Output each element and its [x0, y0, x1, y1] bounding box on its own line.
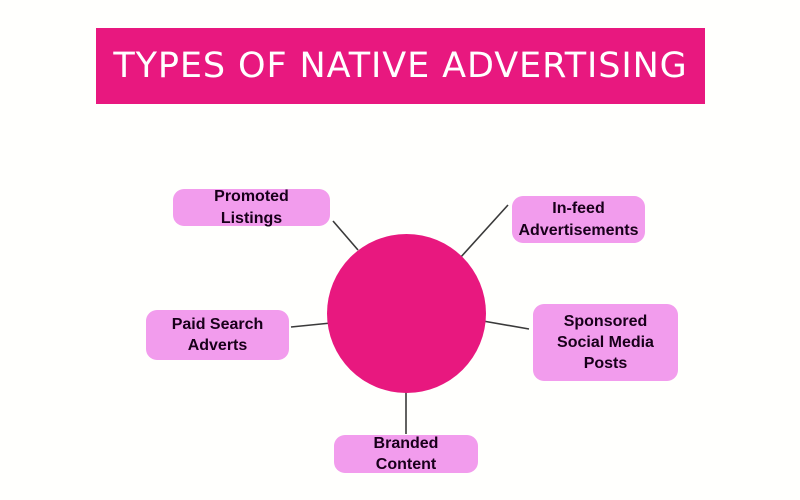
connector-in-feed-advertisements [460, 205, 508, 258]
node-in-feed-advertisements[interactable]: In-feed Advertisements [512, 196, 645, 243]
node-sponsored-social-media-posts[interactable]: Sponsored Social Media Posts [533, 304, 678, 381]
node-label: In-feed Advertisements [518, 198, 638, 240]
node-label-line: Posts [584, 355, 628, 372]
node-label: Sponsored Social Media Posts [557, 311, 654, 374]
node-label-line: Social Media [557, 334, 654, 351]
diagram-canvas: TYPES OF NATIVE ADVERTISING Promoted Lis… [0, 0, 800, 500]
connector-paid-search-adverts [291, 323, 331, 327]
connector-sponsored-social-media-posts [483, 321, 529, 329]
node-branded-content[interactable]: Branded Content [334, 435, 478, 473]
node-label: Paid Search Adverts [172, 314, 264, 356]
node-label: Branded Content [344, 433, 468, 475]
node-paid-search-adverts[interactable]: Paid Search Adverts [146, 310, 289, 360]
node-label-line: Sponsored [564, 313, 648, 330]
node-promoted-listings[interactable]: Promoted Listings [173, 189, 330, 226]
node-label: Promoted Listings [183, 186, 320, 228]
connector-promoted-listings [333, 221, 358, 250]
node-label-line: Advertisements [518, 222, 638, 239]
hub-circle[interactable] [327, 234, 486, 393]
node-label-line: Adverts [188, 337, 248, 354]
node-label-line: Paid Search [172, 316, 264, 333]
node-label-line: In-feed [552, 200, 604, 217]
